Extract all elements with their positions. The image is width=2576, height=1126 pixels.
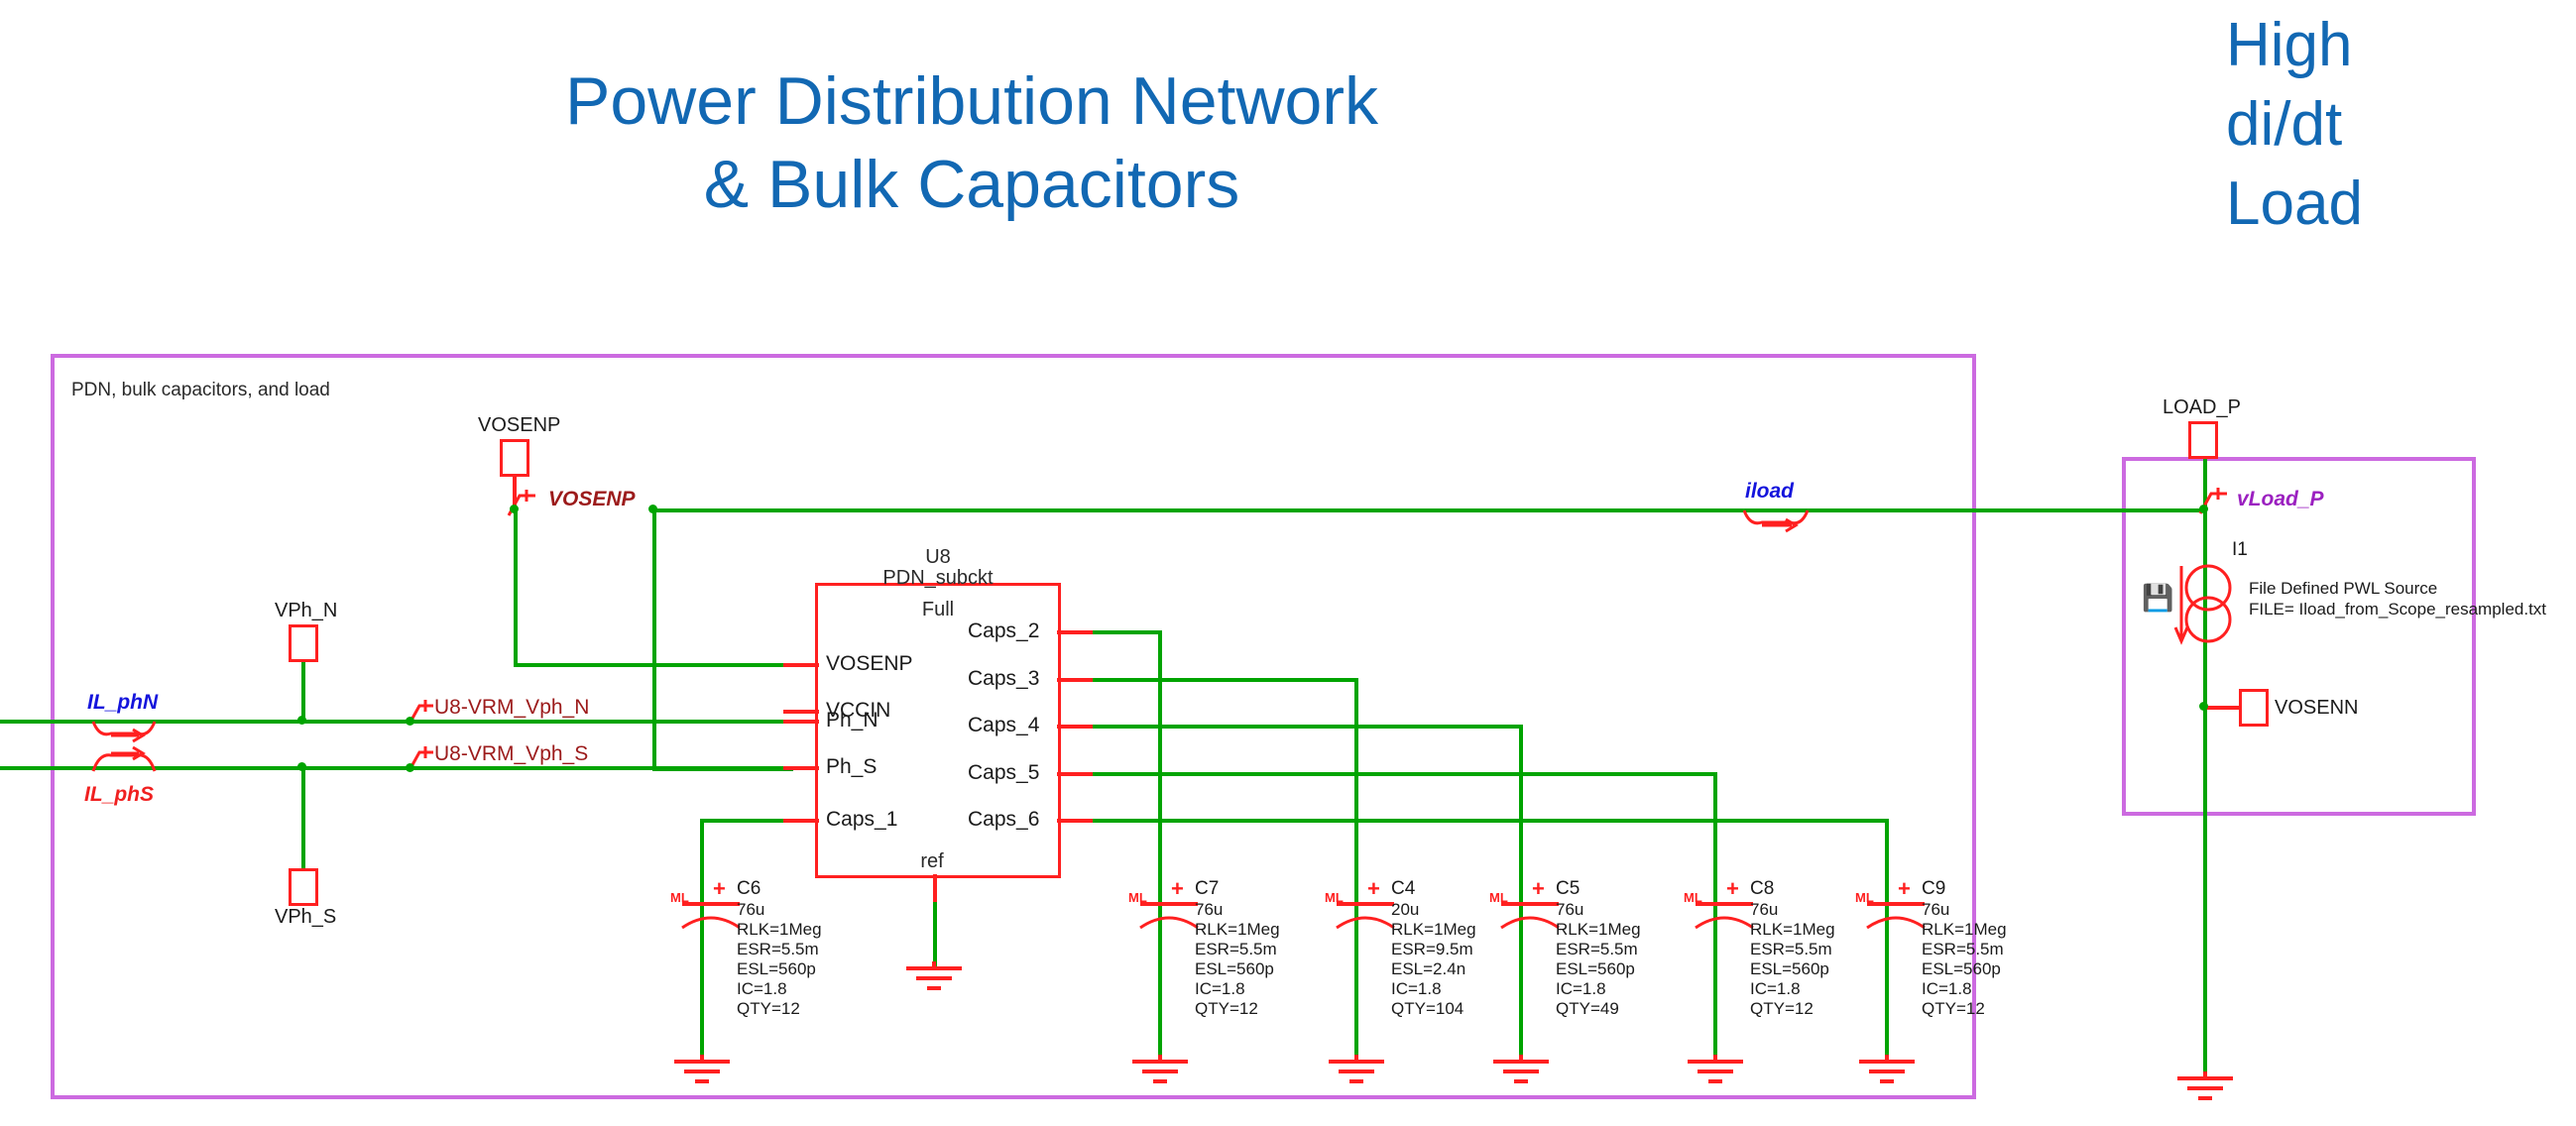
C8-rlk: RLK=1Meg [1750,920,1835,940]
netlabel-vload-p: vLoad_P [2237,488,2324,511]
pdn-group-label: PDN, bulk capacitors, and load [71,380,330,401]
C5-polarity-icon: + [1532,878,1545,900]
C5-value: 76u [1556,900,1583,920]
C5-plate-top [1501,902,1559,906]
wire-caps3-v [1354,678,1358,896]
u8-pin-label-caps4: Caps_4 [968,714,1039,737]
VOSENP-port[interactable] [500,439,529,477]
wire-vccin-to-pin [652,767,793,771]
VPh_N-port-label: VPh_N [275,600,337,622]
VOSENN-port-label: VOSENN [2275,697,2358,720]
netlabel-iload: iload [1745,480,1794,504]
netlabel-u8-vrm-vph-s: U8-VRM_Vph_S [434,742,588,766]
pin-stub-caps4 [1057,725,1093,729]
C9-designator: C9 [1922,878,1945,900]
wire-caps4-v [1519,725,1523,896]
u8-model: PDN_subckt [815,567,1061,590]
C4-qty: QTY=104 [1391,999,1464,1019]
C4-polarity-icon: + [1367,878,1380,900]
VOSENP-port-label: VOSENP [478,414,560,437]
u8-pin-label-caps6: Caps_6 [968,808,1039,832]
wire-caps5-h [1060,772,1717,776]
C8-esr: ESR=5.5m [1750,940,1832,959]
C8-value: 76u [1750,900,1778,920]
side-title: High di/dt Load [2226,6,2563,244]
LOAD_P-port-label: LOAD_P [2163,396,2241,419]
pin-stub-phn [783,720,819,724]
ground-symbol-c5-icon [1487,1055,1555,1088]
C7-qty: QTY=12 [1195,999,1258,1019]
u8-pin-label-phs: Ph_S [826,755,877,779]
il-phs-current-probe-icon [89,745,159,779]
I1-source-type: File Defined PWL Source [2249,578,2437,599]
C9-value: 76u [1922,900,1949,920]
u8-pin-label-caps1: Caps_1 [826,808,897,832]
C5-ic: IC=1.8 [1556,979,1606,999]
C7-plate-top [1140,902,1198,906]
u8-pin-label-vosenp: VOSENP [826,652,913,676]
netlabel-il-phn: IL_phN [87,691,158,715]
junction-dot-vphn-label [406,717,414,726]
C6-plate-bottom-icon [680,908,742,930]
C5-esl: ESL=560p [1556,959,1635,979]
C4-esl: ESL=2.4n [1391,959,1465,979]
VOSENN-port-lead [2205,706,2241,710]
C6-ic: IC=1.8 [737,979,787,999]
C7-rlk: RLK=1Meg [1195,920,1280,940]
VPh_N-port[interactable] [289,624,318,662]
side-title-line2: di/dt [2226,85,2563,165]
junction-dot-vload [2199,505,2208,513]
C7-plate-bottom-icon [1138,908,1200,930]
wire-iload-rail [652,508,2205,512]
C5-designator: C5 [1556,878,1580,900]
I1-source-file: FILE= Iload_from_Scope_resampled.txt [2249,599,2546,619]
C4-ic: IC=1.8 [1391,979,1442,999]
C5-rlk: RLK=1Meg [1556,920,1641,940]
C7-designator: C7 [1195,878,1219,900]
ground-symbol-load-icon [2171,1071,2239,1105]
pin-stub-ref [933,874,937,902]
C7-ic: IC=1.8 [1195,979,1245,999]
u8-pin-label-caps3: Caps_3 [968,667,1039,691]
wire-vosenp-vertical [514,508,518,667]
junction-dot-vosenn [2199,702,2208,711]
schematic-canvas: Power Distribution Network & Bulk Capaci… [0,0,2576,1126]
pin-stub-caps2 [1057,630,1093,634]
C8-ic: IC=1.8 [1750,979,1801,999]
junction-dot-vphs-label [406,763,414,772]
pin-stub-caps3 [1057,678,1093,682]
C7-value: 76u [1195,900,1223,920]
netlabel-u8-vrm-vph-n: U8-VRM_Vph_N [434,696,589,720]
junction-dot-vosenp [510,505,519,513]
side-title-line1: High [2226,6,2563,85]
wire-caps1-v [700,819,704,896]
file-source-icon: 💾 [2142,585,2173,611]
u8-variant: Full [815,599,1061,621]
C4-designator: C4 [1391,878,1415,900]
ground-symbol-c8-icon [1682,1055,1749,1088]
C8-qty: QTY=12 [1750,999,1814,1019]
C6-designator: C6 [737,878,761,900]
C9-plate-bottom-icon [1865,908,1927,930]
wire-caps6-v [1885,819,1889,896]
wire-caps6-h [1060,819,1889,823]
wire-vphn-stub [301,662,305,722]
netlabel-vosenp: VOSENP [548,488,636,511]
C4-plate-bottom-icon [1335,908,1396,930]
wire-caps5-v [1713,772,1717,896]
C8-plate-bottom-icon [1694,908,1755,930]
ground-symbol-c4-icon [1323,1055,1390,1088]
C4-esr: ESR=9.5m [1391,940,1473,959]
pin-stub-vosenp [783,663,819,667]
C6-qty: QTY=12 [737,999,800,1019]
wire-caps2-v [1158,630,1162,896]
wire-vccin-vertical [652,508,656,771]
C9-rlk: RLK=1Meg [1922,920,2007,940]
pin-stub-vccin [783,710,819,714]
pin-stub-caps5 [1057,772,1093,776]
C6-plate-top [682,902,740,906]
ground-symbol-c6-icon [668,1055,736,1088]
C6-esl: ESL=560p [737,959,816,979]
C9-plate-top [1867,902,1925,906]
junction-dot-phs [297,762,306,771]
C5-plate-bottom-icon [1499,908,1561,930]
C4-value: 20u [1391,900,1419,920]
C8-plate-top [1696,902,1753,906]
C9-esl: ESL=560p [1922,959,2001,979]
wire-load-vertical [2203,431,2207,1075]
page-title-line2: & Bulk Capacitors [327,143,1616,226]
u8-pin-label-phn: Ph_N [826,709,878,732]
C9-qty: QTY=12 [1922,999,1985,1019]
iload-current-probe-icon [1740,508,1812,542]
wire-caps4-h [1060,725,1523,729]
C8-esl: ESL=560p [1750,959,1829,979]
LOAD_P-port[interactable] [2188,421,2218,459]
C7-esl: ESL=560p [1195,959,1274,979]
C6-esr: ESR=5.5m [737,940,819,959]
C5-qty: QTY=49 [1556,999,1619,1019]
pin-stub-caps1 [783,819,819,823]
C7-esr: ESR=5.5m [1195,940,1277,959]
ground-symbol-ref-icon [900,961,968,995]
junction-dot-phn [297,716,306,725]
pin-stub-caps6 [1057,819,1093,823]
wire-caps1-h [700,819,795,823]
C7-polarity-icon: + [1171,878,1184,900]
VOSENN-port[interactable] [2239,689,2269,727]
I1-designator: I1 [2232,539,2248,561]
page-title-line1: Power Distribution Network [327,59,1616,143]
u8-designator: U8 [815,546,1061,569]
C8-designator: C8 [1750,878,1774,900]
wire-vphs-stub [301,766,305,870]
C5-esr: ESR=5.5m [1556,940,1638,959]
C9-ic: IC=1.8 [1922,979,1972,999]
wire-caps3-h [1060,678,1358,682]
VPh_S-port[interactable] [289,868,318,906]
C6-polarity-icon: + [713,878,726,900]
u8-pin-label-caps5: Caps_5 [968,761,1039,785]
u8-pin-label-caps2: Caps_2 [968,619,1039,643]
side-title-line3: Load [2226,165,2563,244]
C9-esr: ESR=5.5m [1922,940,2004,959]
page-title: Power Distribution Network & Bulk Capaci… [327,59,1616,226]
I1-current-source-icon[interactable] [2177,562,2239,647]
pin-stub-phs [783,766,819,770]
C4-plate-top [1337,902,1394,906]
netlabel-il-phs: IL_phS [84,783,154,807]
ground-symbol-c9-icon [1853,1055,1921,1088]
VPh_S-port-label: VPh_S [275,906,336,929]
u8-pin-ref: ref [853,850,1011,873]
C9-polarity-icon: + [1898,878,1911,900]
C8-polarity-icon: + [1726,878,1739,900]
C6-value: 76u [737,900,764,920]
C6-rlk: RLK=1Meg [737,920,822,940]
junction-dot-iload-tap [648,505,657,513]
ground-symbol-c7-icon [1126,1055,1194,1088]
C4-rlk: RLK=1Meg [1391,920,1476,940]
vosenp-netlabel-marker-icon [506,488,545,519]
